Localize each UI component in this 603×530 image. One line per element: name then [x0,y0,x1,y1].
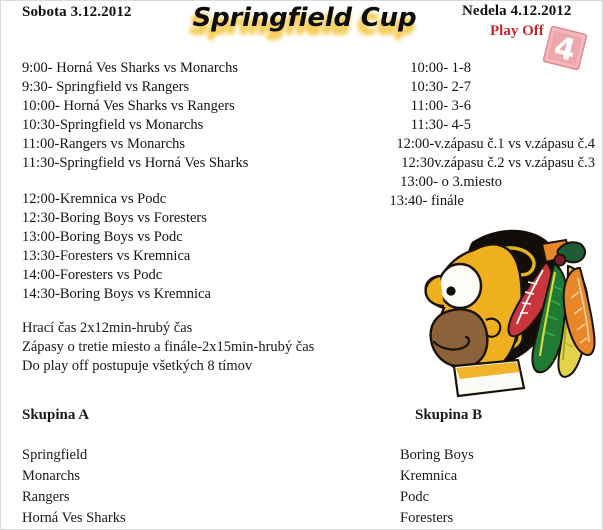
group-a-team: Rangers [22,489,70,506]
note-line: Do play off postupuje všetkých 8 tímov [22,358,252,375]
schedule-row: 14:30-Boring Boys vs Kremnica [22,287,211,302]
group-a-team: Horná Ves Sharks [22,510,126,527]
group-a-heading: Skupina A [22,407,89,424]
playoff-row: 11:30- 4-5 [411,118,471,133]
playoff-row: 10:30- 2-7 [410,80,471,95]
schedule-row: 13:30-Foresters vs Kremnica [22,249,190,264]
group-a-team: Springfield [22,447,87,464]
homer-pupil [446,286,455,295]
schedule-row: 10:00- Horná Ves Sharks vs Rangers [22,99,235,114]
group-a-team: Monarchs [22,468,80,485]
schedule-row: 12:30-Boring Boys vs Foresters [22,211,207,226]
playoff-row: 11:00- 3-6 [411,99,471,114]
schedule-row: 12:00-Kremnica vs Podc [22,192,166,207]
homer-eye [439,264,481,308]
homer-muzzle [431,309,488,367]
note-line: Hrací čas 2x12min-hrubý čas [22,320,192,337]
schedule-row: 9:30- Springfield vs Rangers [22,80,189,95]
cup-title: Springfield Cup Springfield Cup [187,1,422,45]
cup-title-text: Springfield Cup [187,3,422,33]
homer-blackhawks-logo [400,220,600,402]
group-b-team: Boring Boys [400,447,474,464]
watermark-4-icon: 4 [542,25,588,71]
feather-bead [555,255,566,266]
schedule-row: 14:00-Foresters vs Podc [22,268,162,283]
group-b-team: Foresters [400,510,453,527]
saturday-date-heading: Sobota 3.12.2012 [22,4,132,21]
sunday-date-heading: Nedela 4.12.2012 [462,3,572,20]
schedule-row: 11:00-Rangers vs Monarchs [22,137,185,152]
schedule-row: 13:00-Boring Boys vs Podc [22,230,183,245]
playoff-row: 13:00- o 3.miesto [400,175,502,190]
group-b-team: Kremnica [400,468,457,485]
play-off-label: Play Off [490,23,544,40]
playoff-row: 13:40- finále [390,194,465,209]
schedule-row: 11:30-Springfield vs Horná Ves Sharks [22,156,248,171]
poster-canvas: Sobota 3.12.2012 Springfield Cup Springf… [0,0,603,530]
schedule-row: 9:00- Horná Ves Sharks vs Monarchs [22,61,238,76]
schedule-row: 10:30-Springfield vs Monarchs [22,118,203,133]
playoff-row: 12:00-v.zápasu č.1 vs v.zápasu č.4 [396,137,595,152]
note-line: Zápasy o tretie miesto a finále-2x15min-… [22,339,314,356]
group-b-team: Podc [400,489,429,506]
playoff-row: 10:00- 1-8 [410,61,471,76]
playoff-row: 12:30v.zápasu č.2 vs v.zápasu č.3 [401,156,595,171]
group-b-heading: Skupina B [415,407,482,424]
